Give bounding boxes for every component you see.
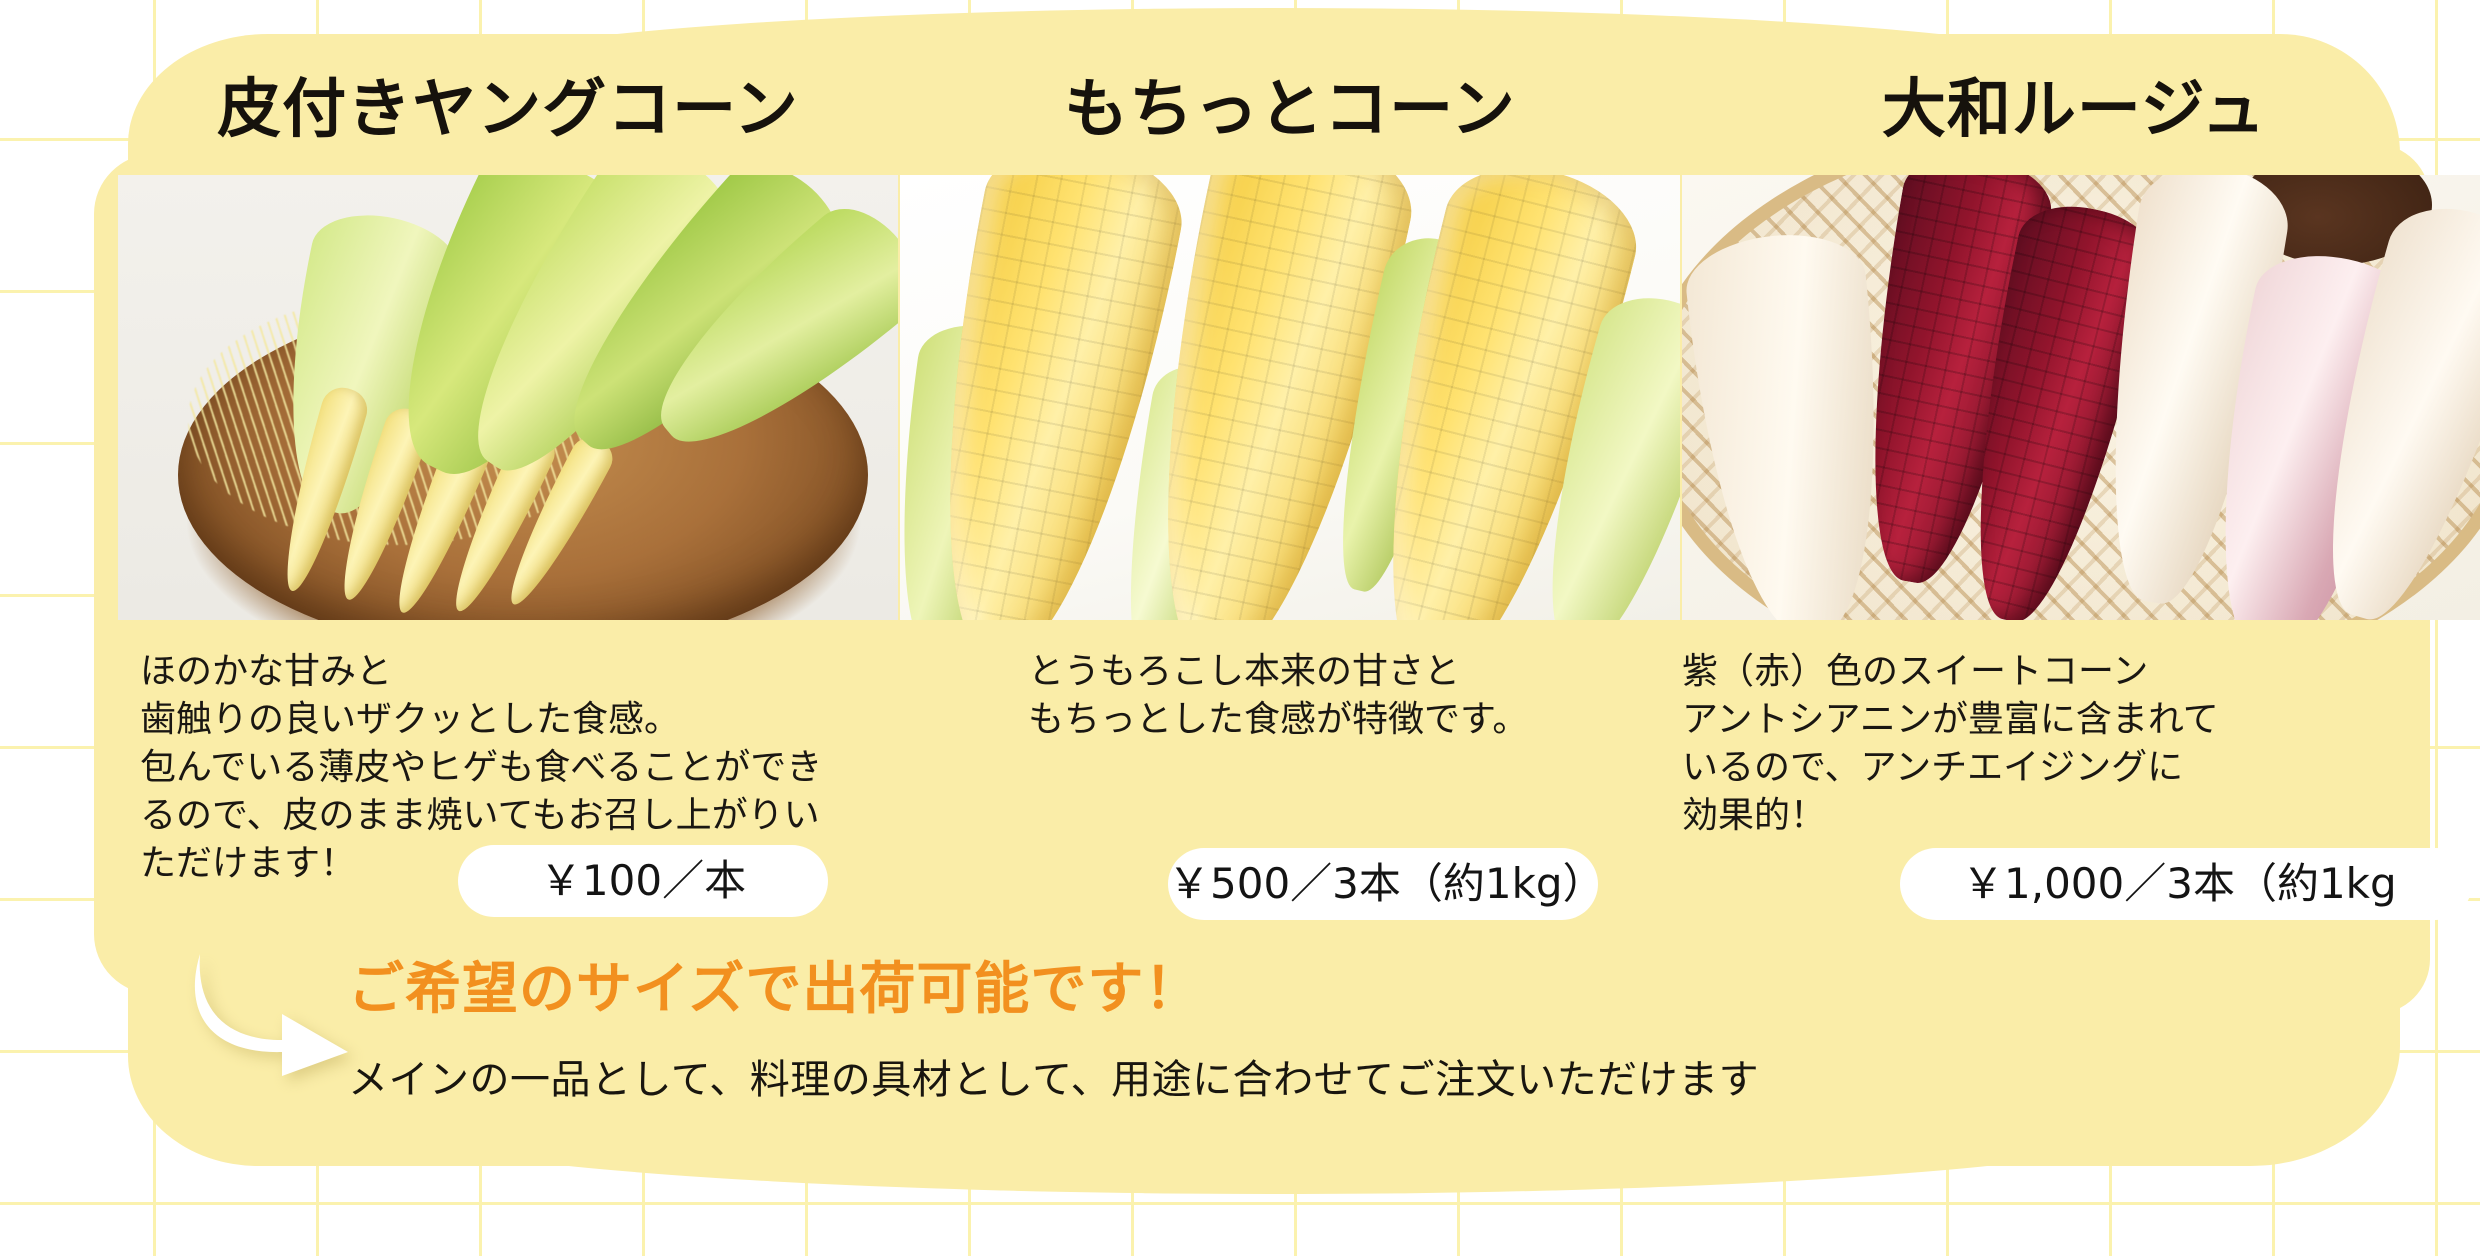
callout-headline: ご希望のサイズで出荷可能です！: [348, 962, 1201, 1018]
product-photo-3: [1682, 175, 2480, 620]
product-description-2: とうもろこし本来の甘さと もちっとした食感が特徴です。: [1028, 648, 1728, 744]
product-photo-1: [118, 175, 898, 620]
product-photo-2: [900, 175, 1680, 620]
curved-arrow-icon: [186, 948, 356, 1078]
product-price-2: ￥500／3本（約1kg）: [1168, 848, 1598, 920]
page-root: 皮付きヤングコーン ほのかな甘みと 歯触りの良いザクッとした食感。 包んでいる薄…: [0, 0, 2480, 1256]
product-title-1: 皮付きヤングコーン: [118, 78, 898, 142]
product-price-3: ￥1,000／3本（約1kg: [1900, 848, 2472, 920]
callout-subtext: メインの一品として、料理の具材として、用途に合わせてご注文いただけます: [348, 1060, 1759, 1100]
product-title-2: もちっとコーン: [900, 78, 1680, 142]
product-description-3: 紫（赤）色のスイートコーン アントシアニンが豊富に含まれて いるので、アンチエイ…: [1682, 648, 2472, 840]
product-title-3: 大和ルージュ: [1682, 78, 2480, 142]
product-price-1: ￥100／本: [458, 845, 828, 917]
